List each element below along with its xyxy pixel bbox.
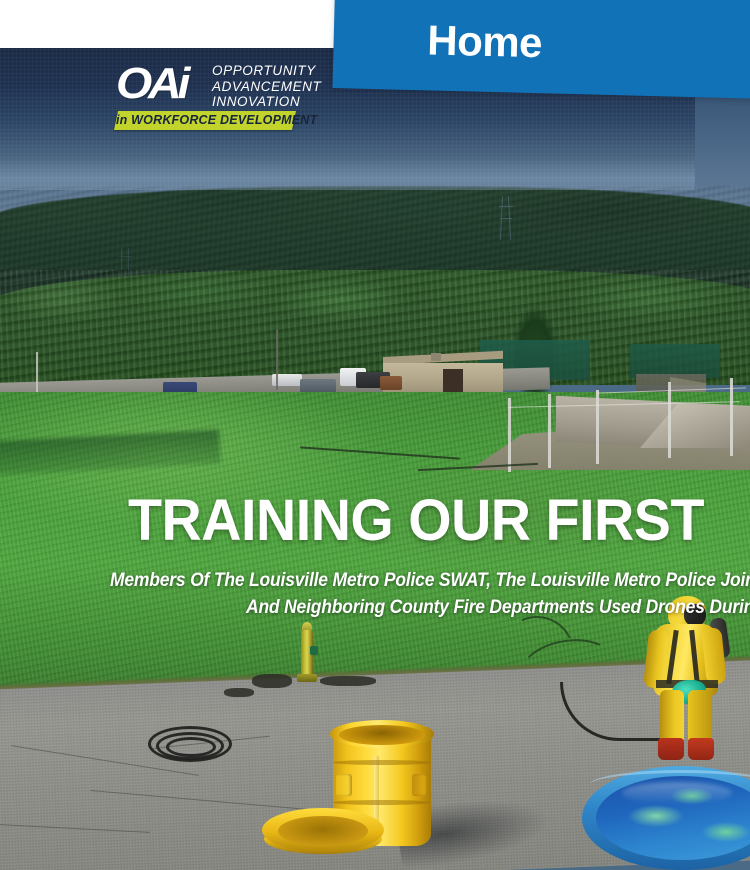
logo-tagline-line-1: OPPORTUNITY bbox=[212, 63, 321, 79]
logo-tagline-line-3: INNOVATION bbox=[212, 94, 321, 110]
hero-subtitle-line-1: Members Of The Louisville Metro Police S… bbox=[110, 568, 750, 595]
photo-ground-debris bbox=[320, 676, 376, 686]
hero-headline: TRAINING OUR FIRST bbox=[128, 492, 704, 550]
photo-fence-post bbox=[596, 390, 599, 464]
site-logo[interactable]: OAi OPPORTUNITY ADVANCEMENT INNOVATION i… bbox=[116, 58, 316, 138]
hero-subtitle-line-2: And Neighboring County Fire Departments … bbox=[246, 595, 750, 622]
photo-fire-hydrant bbox=[296, 620, 318, 682]
photo-hazmat-responder bbox=[640, 596, 732, 776]
page-root: TRAINING OUR FIRST Members Of The Louisv… bbox=[0, 0, 750, 870]
photo-tree-backdrop-right bbox=[630, 344, 720, 378]
nav-tab-home-label: Home bbox=[333, 14, 750, 73]
logo-banner-label: in WORKFORCE DEVELOPMENT bbox=[116, 111, 294, 130]
photo-fence-post bbox=[730, 378, 733, 456]
nav-tab-home[interactable]: Home bbox=[332, 0, 750, 99]
photo-decontamination-pool bbox=[582, 766, 750, 870]
photo-vehicle bbox=[380, 376, 402, 390]
photo-fence-post bbox=[668, 382, 671, 458]
photo-transmission-tower bbox=[498, 196, 514, 240]
logo-banner: in WORKFORCE DEVELOPMENT bbox=[114, 111, 296, 130]
photo-utility-pole bbox=[276, 330, 278, 390]
photo-ground-debris bbox=[224, 688, 254, 697]
photo-ground-debris bbox=[252, 674, 292, 688]
photo-coiled-hose bbox=[148, 726, 234, 766]
logo-mark-oai: OAi bbox=[116, 62, 216, 106]
logo-tagline-line-2: ADVANCEMENT bbox=[212, 79, 321, 95]
top-white-strip bbox=[0, 0, 340, 48]
logo-tagline: OPPORTUNITY ADVANCEMENT INNOVATION bbox=[212, 63, 321, 110]
photo-fence-post bbox=[508, 398, 511, 472]
photo-hazmat-drum-lid bbox=[262, 808, 384, 860]
